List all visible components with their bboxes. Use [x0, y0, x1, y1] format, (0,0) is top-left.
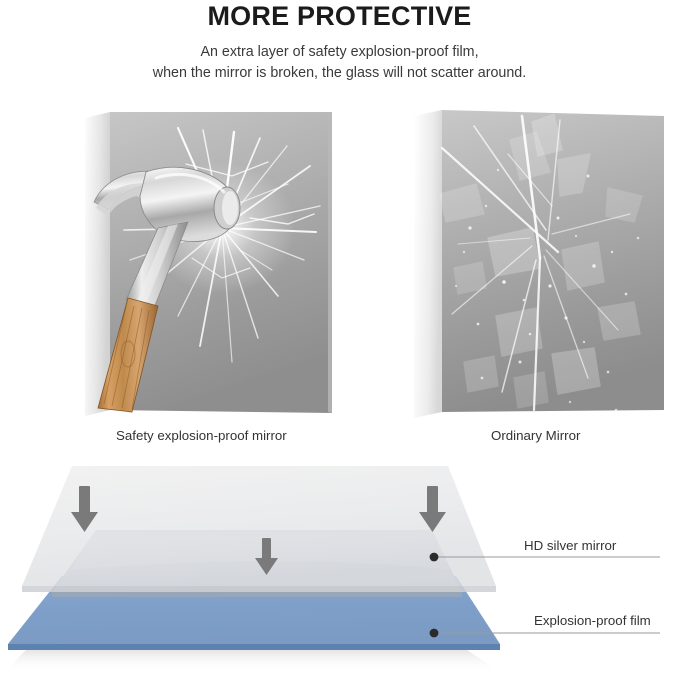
comparison-panels: [0, 110, 679, 420]
leader-dot-mirror: [430, 553, 439, 562]
subtitle-line-1: An extra layer of safety explosion-proof…: [0, 42, 679, 63]
layer-diagram-illustration: [0, 458, 679, 699]
safety-mirror-panel: [82, 110, 342, 420]
mirror-layer-edge: [52, 592, 462, 597]
label-explosion-proof-film: Explosion-proof film: [534, 613, 651, 628]
film-layer-edge: [8, 644, 500, 650]
leader-dot-film: [430, 629, 439, 638]
caption-safety-mirror: Safety explosion-proof mirror: [116, 428, 287, 443]
hammer-face-highlight: [222, 191, 238, 225]
header: MORE PROTECTIVE An extra layer of safety…: [0, 0, 679, 84]
page-title: MORE PROTECTIVE: [0, 0, 679, 31]
mirror-side-face: [414, 110, 442, 418]
safety-mirror-illustration: [82, 110, 342, 420]
mirror-side-face: [85, 112, 110, 416]
mirror-edge-highlight: [328, 112, 332, 413]
layer-diagram: [0, 458, 679, 699]
ordinary-mirror-panel: [412, 110, 672, 420]
label-hd-silver-mirror: HD silver mirror: [524, 538, 616, 553]
subtitle: An extra layer of safety explosion-proof…: [0, 31, 679, 84]
glass-sheet-edge: [22, 586, 496, 592]
glass-sheet-layer: [22, 466, 496, 586]
subtitle-line-2: when the mirror is broken, the glass wil…: [0, 63, 679, 84]
caption-ordinary-mirror: Ordinary Mirror: [491, 428, 580, 443]
ordinary-mirror-illustration: [412, 110, 672, 420]
